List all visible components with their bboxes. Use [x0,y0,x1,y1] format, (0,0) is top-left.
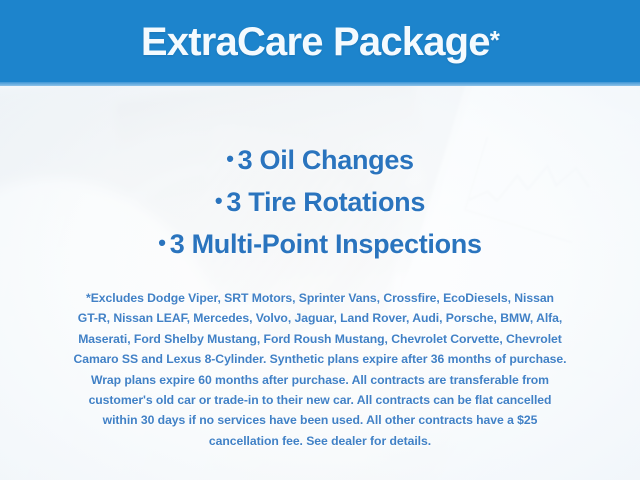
page-title: ExtraCare Package* [0,0,640,84]
benefit-item-oil-changes: •3 Oil Changes [0,140,640,182]
disclaimer-line: Maserati, Ford Shelby Mustang, Ford Rous… [22,329,618,349]
disclaimer-text: *Excludes Dodge Viper, SRT Motors, Sprin… [22,288,618,451]
header-banner: ExtraCare Package* [0,0,640,86]
benefit-item-label: 3 Oil Changes [238,145,414,175]
disclaimer-line: within 30 days if no services have been … [22,410,618,430]
disclaimer-line: cancellation fee. See dealer for details… [22,431,618,451]
benefit-item-label: 3 Tire Rotations [226,187,425,217]
bullet-dot-icon: • [158,230,165,255]
benefit-item-label: 3 Multi-Point Inspections [170,229,482,259]
benefit-item-multi-point-inspections: •3 Multi-Point Inspections [0,224,640,266]
bullet-dot-icon: • [215,188,222,213]
disclaimer-line: Camaro SS and Lexus 8-Cylinder. Syntheti… [22,349,618,369]
disclaimer-line: GT-R, Nissan LEAF, Mercedes, Volvo, Jagu… [22,308,618,328]
extracare-package-promo-card: ExtraCare Package* •3 Oil Changes •3 Tir… [0,0,640,480]
page-title-text: ExtraCare Package [141,22,490,62]
disclaimer-line: customer's old car or trade-in to their … [22,390,618,410]
disclaimer-line: *Excludes Dodge Viper, SRT Motors, Sprin… [22,288,618,308]
benefit-item-tire-rotations: •3 Tire Rotations [0,182,640,224]
benefits-list: •3 Oil Changes •3 Tire Rotations •3 Mult… [0,140,640,266]
bullet-dot-icon: • [226,146,233,171]
disclaimer-line: Wrap plans expire 60 months after purcha… [22,370,618,390]
